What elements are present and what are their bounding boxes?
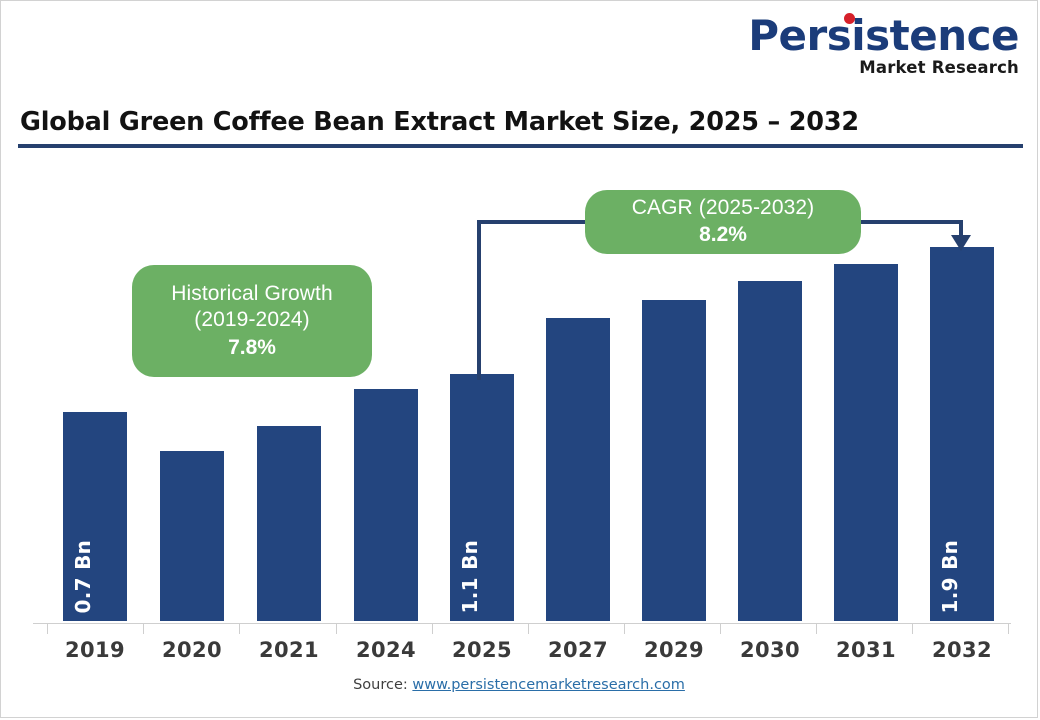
cagr-line1: CAGR (2025-2032) [632,195,815,221]
x-axis-label-2025: 2025 [450,638,514,662]
x-axis-line [33,623,1011,624]
bar-2032: US$ 1.9 Bn [930,247,994,621]
chart-page: Persistence Market Research Global Green… [0,0,1038,718]
source-link[interactable]: www.persistencemarketresearch.com [412,677,685,693]
cagr-callout: CAGR (2025-2032) 8.2% [585,190,861,254]
bar-2021 [257,426,321,621]
axis-tick [816,623,817,634]
bar-2031 [834,264,898,621]
cagr-connector-vertical-start [477,220,481,380]
bar-2019: US$ 0.7 Bn [63,412,127,621]
cagr-value: 8.2% [699,221,747,248]
axis-tick [143,623,144,634]
cagr-connector-horizontal-left [477,220,593,224]
axis-tick [624,623,625,634]
historical-growth-callout: Historical Growth (2019-2024) 7.8% [132,265,372,377]
historical-growth-line1: Historical Growth [171,281,333,307]
x-axis-label-2024: 2024 [354,638,418,662]
x-axis-label-2029: 2029 [642,638,706,662]
bar-2025: US$ 1.1 Bn [450,374,514,621]
source-label: Source: [353,677,408,693]
source-footer: Source: www.persistencemarketresearch.co… [1,677,1037,693]
cagr-connector-horizontal-right [853,220,963,224]
bar-chart-plot: US$ 0.7 Bn US$ 1.1 Bn US$ 1.9 Bn [1,1,1039,719]
x-axis-label-2031: 2031 [834,638,898,662]
axis-tick [528,623,529,634]
x-axis-label-2020: 2020 [160,638,224,662]
x-axis-label-2030: 2030 [738,638,802,662]
bar-2020 [160,451,224,621]
axis-tick [1008,623,1009,634]
axis-tick [432,623,433,634]
bar-2030 [738,281,802,621]
axis-tick [239,623,240,634]
x-axis-label-2032: 2032 [930,638,994,662]
axis-tick [336,623,337,634]
historical-growth-value: 7.8% [228,334,276,361]
axis-tick [912,623,913,634]
bar-2029 [642,300,706,621]
axis-tick [47,623,48,634]
axis-tick [720,623,721,634]
cagr-connector-arrow-icon [951,235,971,251]
bar-2027 [546,318,610,621]
bar-2024 [354,389,418,621]
historical-growth-line2: (2019-2024) [194,307,310,333]
x-axis-label-2027: 2027 [546,638,610,662]
x-axis-label-2019: 2019 [63,638,127,662]
x-axis-label-2021: 2021 [257,638,321,662]
